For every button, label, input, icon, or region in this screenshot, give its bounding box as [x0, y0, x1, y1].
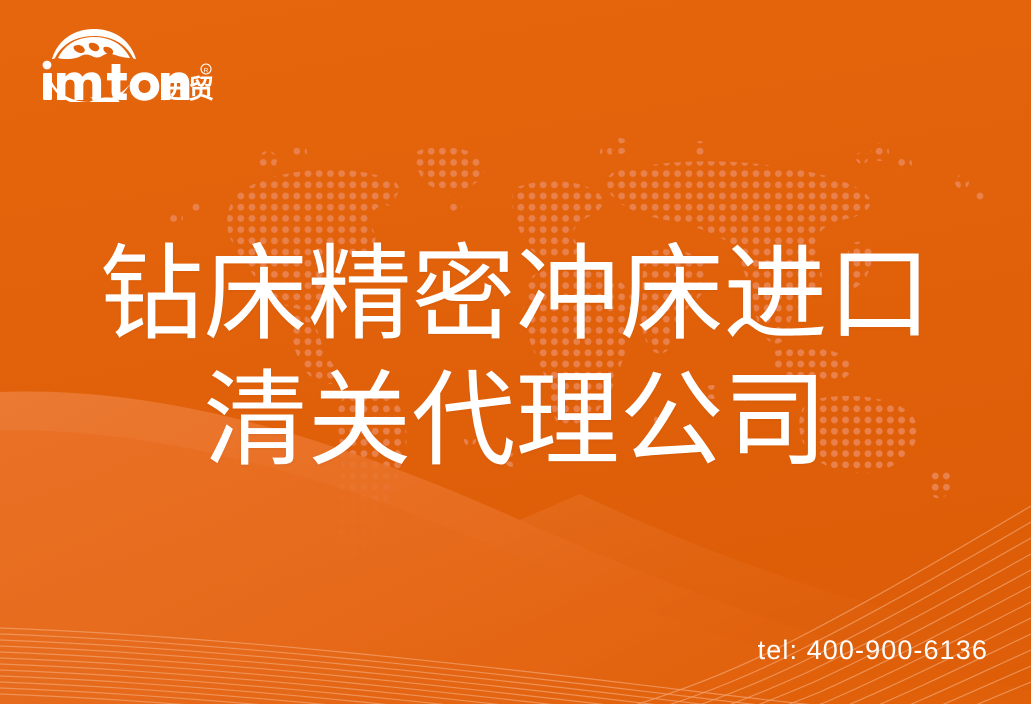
promo-banner: 进贸通 R 钻床精密冲床进口 清关代理公司 tel: 400-900-6136: [0, 0, 1031, 704]
headline-block: 钻床精密冲床进口 清关代理公司: [0, 232, 1031, 484]
headline-line-2: 清关代理公司: [0, 358, 1031, 484]
brand-chinese-text: 进贸通: [162, 74, 213, 102]
trademark-icon: R: [201, 64, 211, 75]
headline-line-1: 钻床精密冲床进口: [0, 232, 1031, 358]
brand-wordmark-chinese: 进贸通: [162, 74, 213, 102]
contact-phone[interactable]: tel: 400-900-6136: [758, 634, 988, 666]
svg-text:R: R: [204, 68, 209, 75]
brand-logo-svg: 进贸通 R: [38, 28, 213, 102]
globe-dome-icon: [52, 29, 136, 59]
brand-logo[interactable]: 进贸通 R: [38, 28, 213, 102]
